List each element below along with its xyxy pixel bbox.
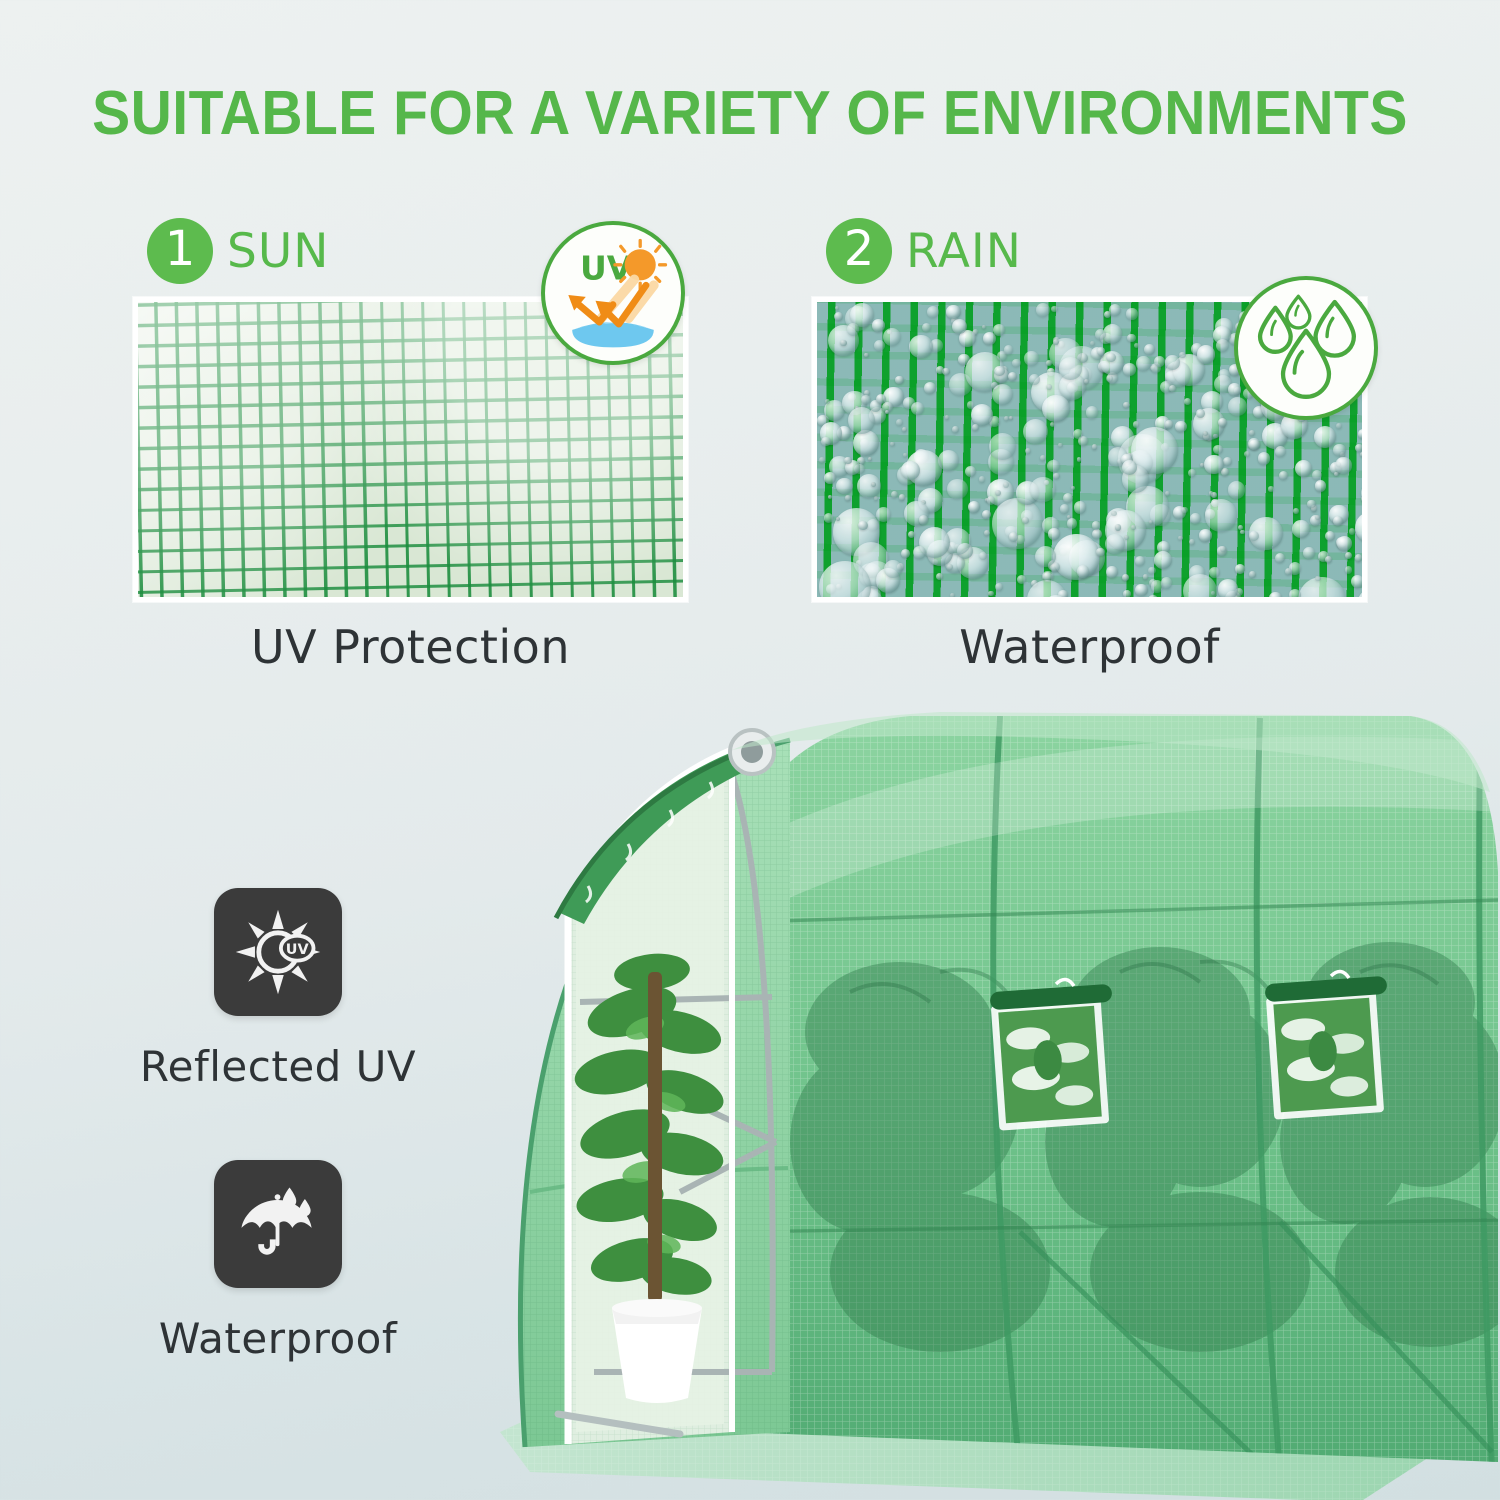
greenhouse-illustration: [380, 672, 1500, 1500]
plant-silhouettes: [790, 942, 1500, 1352]
waterproof-umbrella-icon: [230, 1176, 326, 1272]
waterproof-badge: [1234, 276, 1378, 420]
caption-waterproof: Waterproof: [812, 620, 1367, 674]
step-number-badge-2: 2: [826, 218, 892, 284]
greenhouse-product-photo: [380, 672, 1500, 1500]
greenhouse-body: [720, 692, 1500, 1492]
caption-uv-protection: UV Protection: [133, 620, 688, 674]
water-droplets-icon: [1239, 281, 1373, 415]
roll-up-window-1: [990, 979, 1113, 1130]
reflected-uv-sun-icon: UV: [230, 904, 326, 1000]
reflected-uv-icon-tile: UV: [214, 888, 342, 1016]
uv-sun-reflection-icon: UV: [545, 225, 681, 361]
page-title: SUITABLE FOR A VARIETY OF ENVIRONMENTS: [60, 78, 1440, 149]
uv-protection-badge: UV: [541, 221, 685, 365]
roll-up-window-2: [1265, 971, 1388, 1119]
panel-label-sun: SUN: [227, 224, 329, 279]
uv-icon-text: UV: [286, 942, 310, 958]
svg-text:UV: UV: [580, 248, 633, 287]
waterproof-icon-tile: [214, 1160, 342, 1288]
panel-label-rain: RAIN: [906, 224, 1022, 279]
step-number-badge-1: 1: [147, 218, 213, 284]
product-feature-graphic: SUITABLE FOR A VARIETY OF ENVIRONMENTS 1…: [0, 0, 1500, 1500]
